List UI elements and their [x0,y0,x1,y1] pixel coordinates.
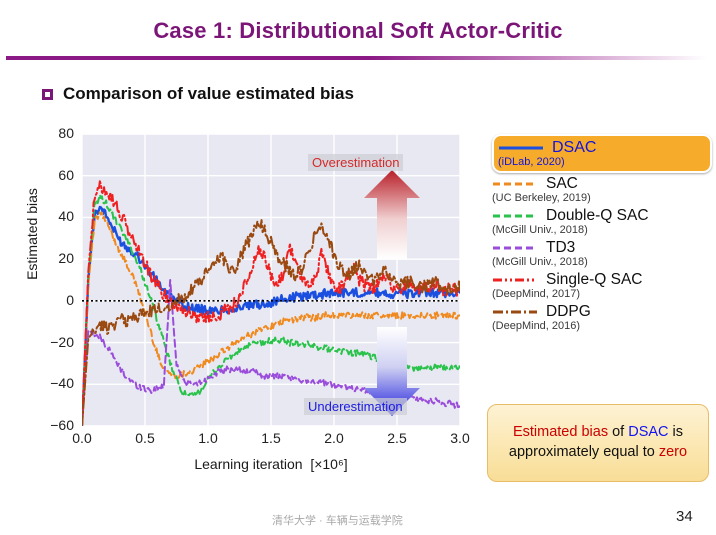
callout-part-1: Estimated bias [513,424,608,440]
legend-line-swatch [492,177,538,191]
x-tick-label: 0.0 [52,430,112,446]
legend-item-label: Single-Q SAC [546,271,642,289]
chart-container: Estimated bias Learning iteration [×10⁶]… [0,118,470,488]
y-tick-label: 60 [10,167,74,183]
legend-line-swatch [492,241,538,255]
legend-item-source: (iDLab, 2020) [498,156,704,168]
callout-part-2: of [608,424,628,440]
legend-item-label: Double-Q SAC [546,207,649,225]
x-axis-label: Learning iteration [×10⁶] [82,456,460,472]
x-tick-label: 1.0 [178,430,238,446]
summary-callout: Estimated bias of DSAC is approximately … [487,404,709,482]
legend-item-source: (McGill Univ., 2018) [492,256,712,268]
legend-item-ddpg[interactable]: DDPG(DeepMind, 2016) [492,302,712,334]
plot-svg [82,134,460,426]
legend-item-label: DDPG [546,303,591,321]
y-axis-label: Estimated bias [24,164,40,304]
legend-item-source: (DeepMind, 2017) [492,288,712,300]
legend-item-dsac[interactable]: DSAC(iDLab, 2020) [492,134,712,173]
x-axis-unit: [×10⁶] [310,456,347,472]
y-tick-label: 80 [10,125,74,141]
x-tick-label: 2.5 [367,430,427,446]
y-tick-label: −40 [10,375,74,391]
x-tick-label: 2.0 [304,430,364,446]
legend-item-td3[interactable]: TD3(McGill Univ., 2018) [492,238,712,270]
plot-area: Overestimation Underestimation [82,134,460,426]
section-heading: Comparison of value estimated bias [42,84,354,104]
legend-item-single-q-sac[interactable]: Single-Q SAC(DeepMind, 2017) [492,270,712,302]
x-tick-label: 0.5 [115,430,175,446]
y-tick-label: 40 [10,208,74,224]
callout-part-5: zero [659,444,687,460]
y-tick-label: −20 [10,334,74,350]
legend-line-swatch [492,209,538,223]
overestimation-annotation: Overestimation [308,154,403,171]
legend-line-swatch [498,141,544,155]
section-heading-label: Comparison of value estimated bias [63,84,354,104]
overestimation-arrow [364,170,420,259]
legend-item-label: DSAC [552,139,596,157]
footer-organization: 清华大学 · 车辆与运载学院 [272,512,403,528]
x-tick-label: 3.0 [430,430,490,446]
slide-root: Case 1: Distributional Soft Actor-Critic… [0,0,716,535]
legend-line-swatch [492,273,538,287]
legend-item-sac[interactable]: SAC(UC Berkeley, 2019) [492,174,712,206]
legend-item-source: (DeepMind, 2016) [492,320,712,332]
x-tick-label: 1.5 [241,430,301,446]
x-axis-label-text: Learning iteration [194,456,302,472]
title-divider [6,56,706,60]
legend-item-label: SAC [546,175,578,193]
legend-item-double-q-sac[interactable]: Double-Q SAC(McGill Univ., 2018) [492,206,712,238]
legend-item-source: (UC Berkeley, 2019) [492,192,712,204]
callout-part-3: DSAC [628,424,668,440]
page-title: Case 1: Distributional Soft Actor-Critic [0,18,716,44]
y-tick-label: 20 [10,250,74,266]
legend-item-source: (McGill Univ., 2018) [492,224,712,236]
summary-callout-text: Estimated bias of DSAC is approximately … [496,423,700,462]
legend-item-label: TD3 [546,239,575,257]
y-tick-label: 0 [10,292,74,308]
legend-line-swatch [492,305,538,319]
page-number: 34 [676,508,693,525]
chart-legend: DSAC(iDLab, 2020)SAC(UC Berkeley, 2019)D… [492,134,712,334]
underestimation-annotation: Underestimation [304,398,407,415]
square-bullet-icon [42,89,53,100]
